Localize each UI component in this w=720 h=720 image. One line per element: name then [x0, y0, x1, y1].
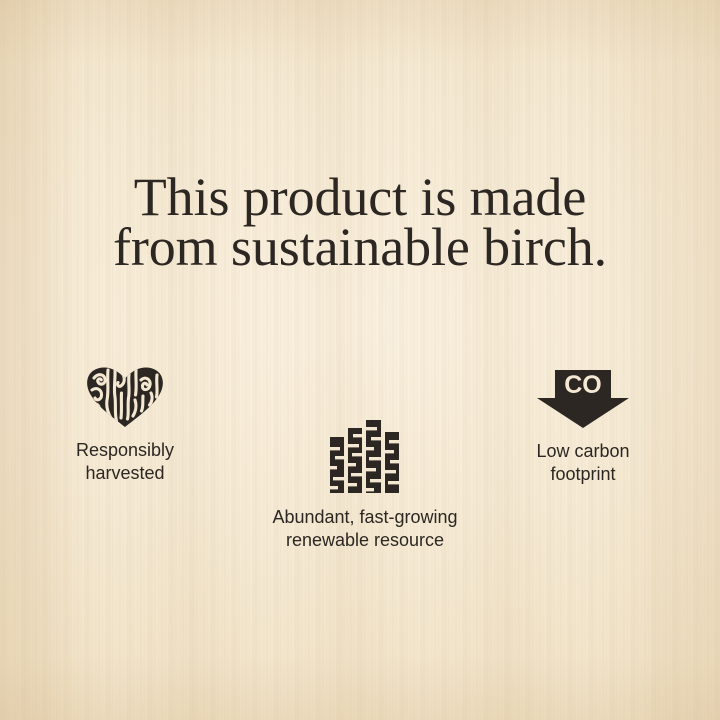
- feature-caption: Low carbon footprint: [483, 440, 683, 486]
- caption-line-2: renewable resource: [255, 529, 475, 552]
- headline-line-2: from sustainable birch.: [0, 222, 720, 272]
- feature-renewable-resource: Abundant, fast-growing renewable resourc…: [255, 417, 475, 552]
- birch-sustainability-poster: This product is made from sustainable bi…: [0, 0, 720, 720]
- caption-line-1: Responsibly: [25, 439, 225, 462]
- caption-line-1: Low carbon: [483, 440, 683, 463]
- caption-line-2: footprint: [483, 463, 683, 486]
- co2-label: CO: [564, 371, 602, 399]
- icon-container: [25, 364, 225, 428]
- icon-container: [255, 417, 475, 493]
- feature-low-carbon-footprint: CO Low carbon footprint: [483, 366, 683, 486]
- co2-down-arrow-icon: CO: [537, 370, 629, 428]
- feature-caption: Responsibly harvested: [25, 439, 225, 485]
- caption-line-1: Abundant, fast-growing: [255, 506, 475, 529]
- page-title: This product is made from sustainable bi…: [0, 172, 720, 272]
- feature-caption: Abundant, fast-growing renewable resourc…: [255, 506, 475, 552]
- icon-container: CO: [483, 366, 683, 428]
- wood-grain-heart-icon: [85, 366, 165, 428]
- birch-trunks-icon: [329, 419, 401, 493]
- caption-line-2: harvested: [25, 462, 225, 485]
- feature-responsibly-harvested: Responsibly harvested: [25, 364, 225, 485]
- headline-line-1: This product is made: [0, 172, 720, 222]
